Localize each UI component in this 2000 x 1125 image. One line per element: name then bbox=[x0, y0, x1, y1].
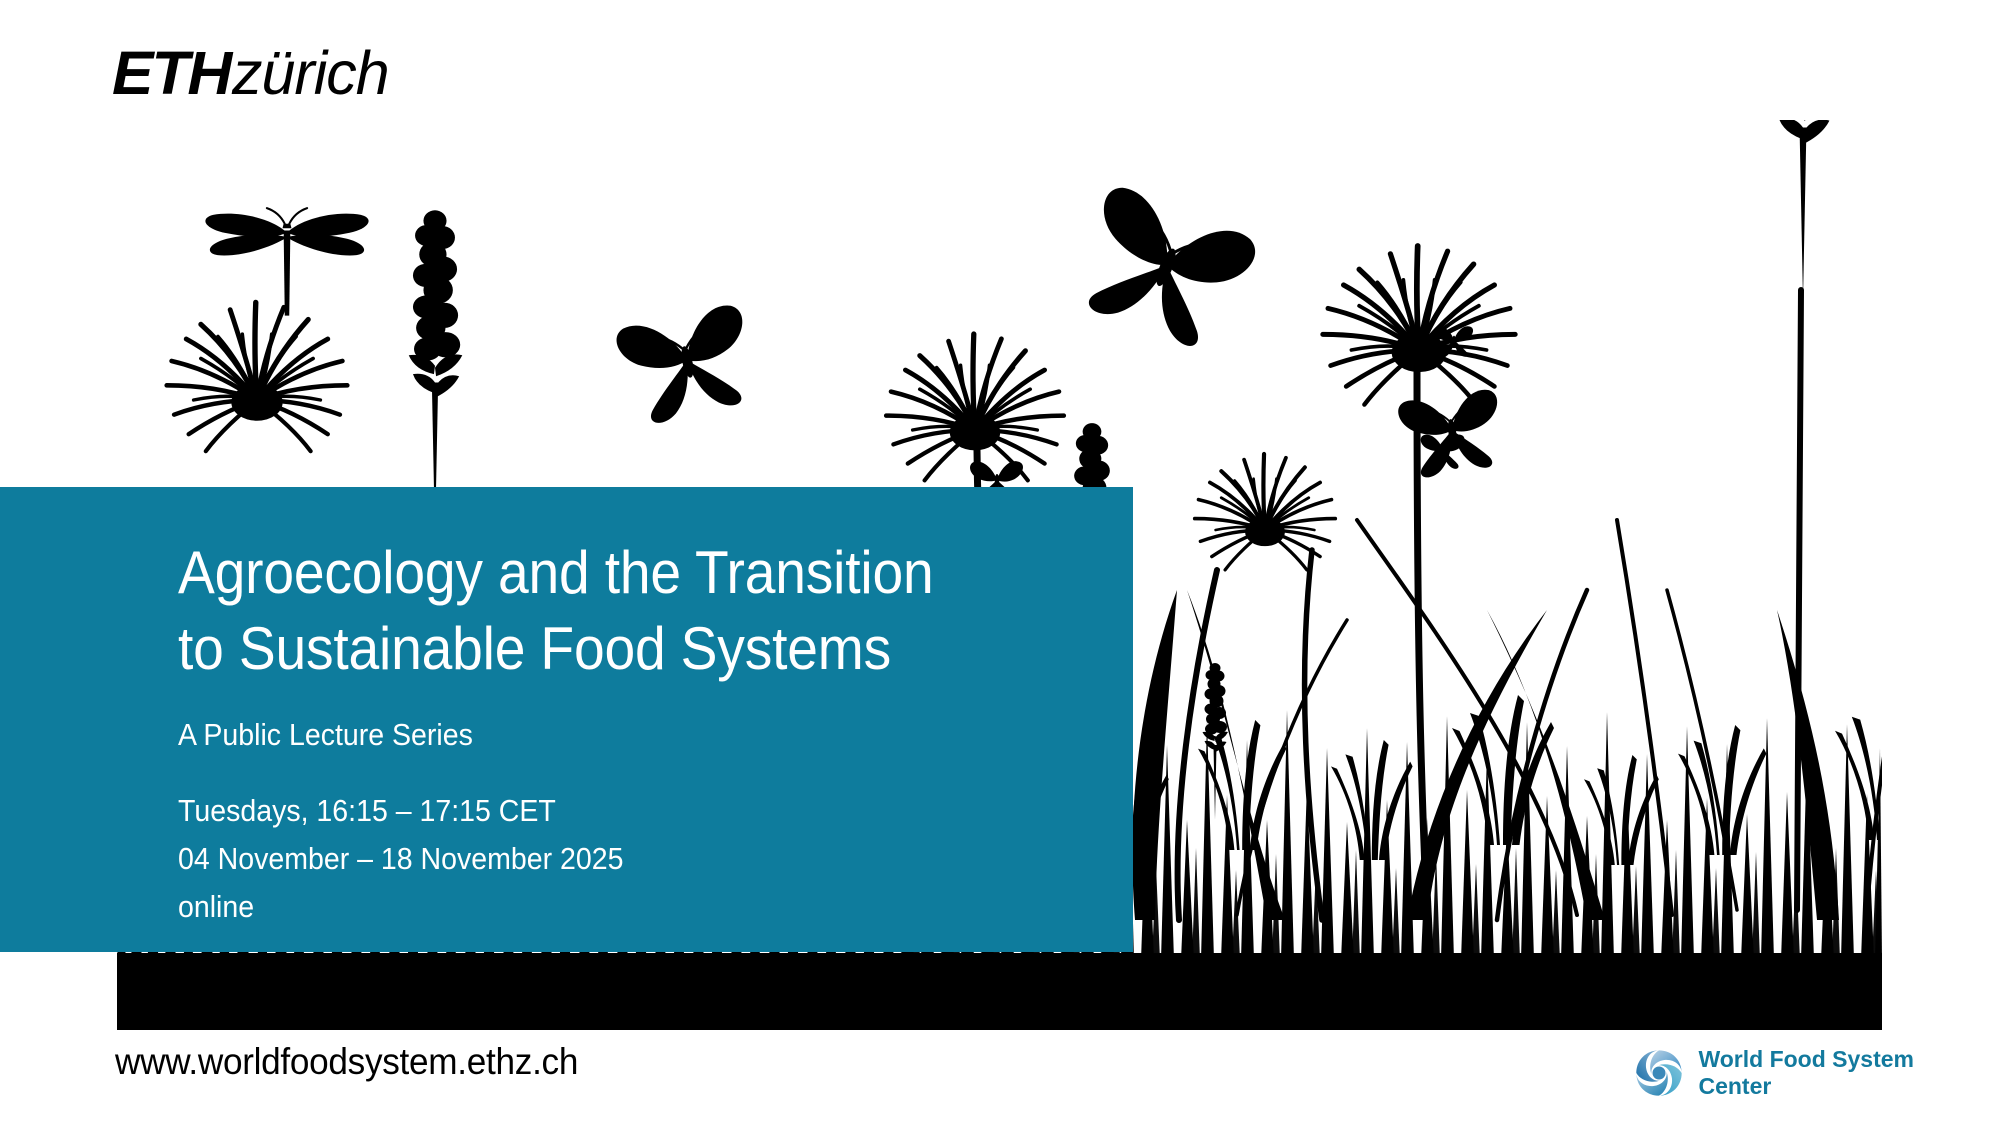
dandelion-low-right bbox=[1195, 454, 1336, 570]
wfsc-wordmark: World Food System Center bbox=[1698, 1046, 1914, 1100]
salvia-right-tall bbox=[1774, 120, 1833, 300]
dragonfly bbox=[205, 208, 368, 316]
wfsc-line-2: Center bbox=[1698, 1073, 1914, 1100]
butterfly-center bbox=[614, 302, 760, 428]
panel-subtitle: A Public Lecture Series bbox=[178, 715, 1001, 755]
wfsc-line-1: World Food System bbox=[1698, 1046, 1914, 1072]
panel-title-line-2: to Sustainable Food Systems bbox=[178, 611, 1001, 687]
dandelion-left bbox=[167, 302, 348, 451]
world-food-system-center-logo: World Food System Center bbox=[1632, 1046, 1914, 1100]
panel-title-line-1: Agroecology and the Transition bbox=[178, 535, 1001, 611]
website-url[interactable]: www.worldfoodsystem.ethz.ch bbox=[115, 1040, 578, 1084]
eth-logo-mark: ETH bbox=[112, 38, 230, 108]
detail-dates: 04 November – 18 November 2025 bbox=[178, 835, 1001, 883]
panel-details: Tuesdays, 16:15 – 17:15 CET 04 November … bbox=[178, 787, 1001, 931]
eth-zurich-logo: ETH zürich bbox=[112, 38, 389, 100]
butterfly-upper-right bbox=[1065, 182, 1260, 359]
spiral-swirl-icon bbox=[1632, 1046, 1686, 1100]
detail-location: online bbox=[178, 883, 1001, 931]
eth-logo-wordmark: zürich bbox=[232, 38, 389, 108]
detail-time: Tuesdays, 16:15 – 17:15 CET bbox=[178, 787, 1001, 835]
announcement-panel: Agroecology and the Transition to Sustai… bbox=[0, 487, 1133, 952]
